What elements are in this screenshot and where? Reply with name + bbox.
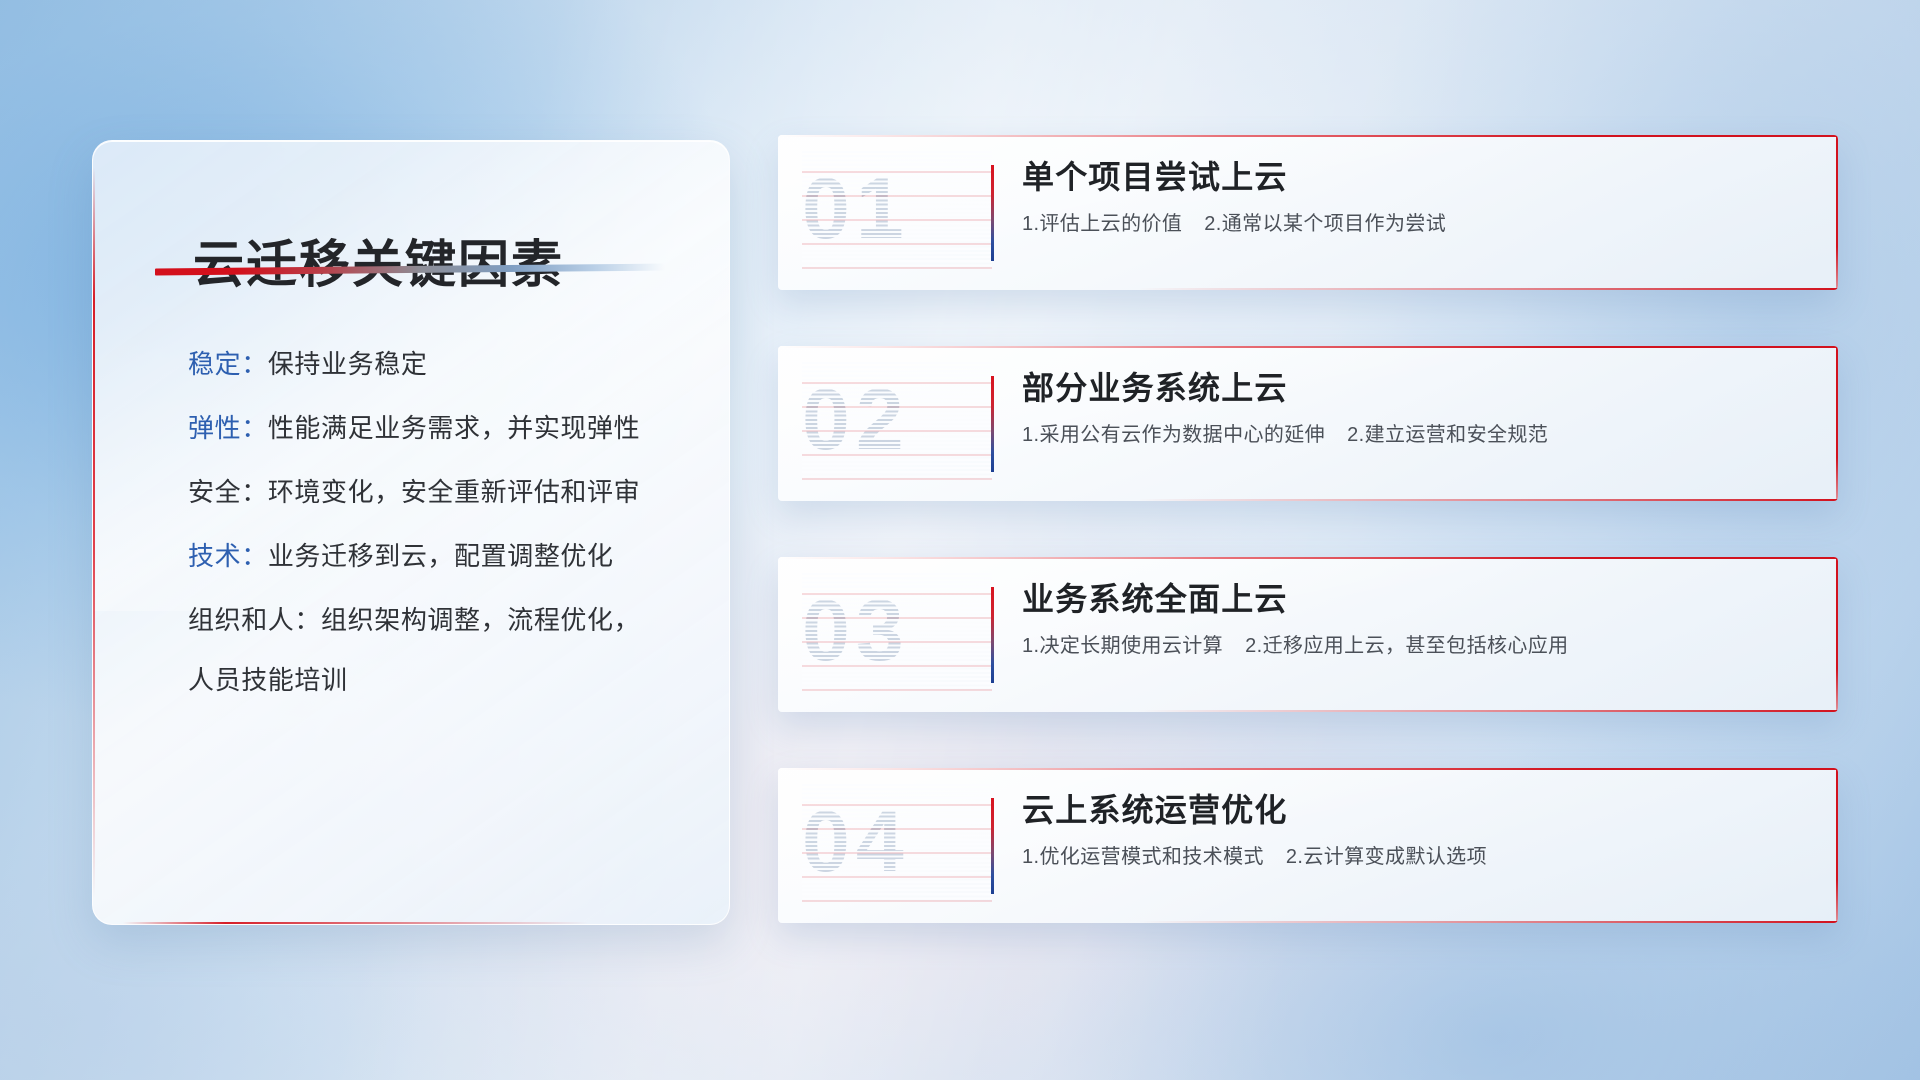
step-number: 04 <box>802 782 992 902</box>
card-top-accent-line <box>778 346 1838 348</box>
card-right-accent-line <box>1836 768 1838 923</box>
list-item-key: 稳定： <box>188 349 268 379</box>
list-item: 技术：业务迁移到云，配置调整优化 <box>188 543 693 569</box>
step-number-badge: 04 <box>802 782 992 902</box>
step-accent-bar <box>991 376 994 472</box>
step-title: 单个项目尝试上云 <box>1022 157 1812 197</box>
step-description-part-1: 1.优化运营模式和技术模式 <box>1022 846 1264 868</box>
card-bottom-accent-line <box>1138 710 1838 712</box>
step-description-part-1: 1.采用公有云作为数据中心的延伸 <box>1022 424 1325 446</box>
step-number-badge: 03 <box>802 571 992 691</box>
list-item-key: 安全： <box>188 477 268 507</box>
cloud-migration-steps: 01 单个项目尝试上云 1.评估上云的价值2.通常以某个项目作为尝试 02 <box>778 135 1838 979</box>
card-right-accent-line <box>1836 557 1838 712</box>
card-bottom-accent-line <box>1138 499 1838 501</box>
list-item-value: 环境变化，安全重新评估和评审 <box>268 477 640 507</box>
step-text-block: 单个项目尝试上云 1.评估上云的价值2.通常以某个项目作为尝试 <box>1022 157 1812 237</box>
step-number-badge: 01 <box>802 149 992 269</box>
card-right-accent-line <box>1836 135 1838 290</box>
step-text-block: 云上系统运营优化 1.优化运营模式和技术模式2.云计算变成默认选项 <box>1022 790 1812 870</box>
step-text-block: 业务系统全面上云 1.决定长期使用云计算2.迁移应用上云，甚至包括核心应用 <box>1022 579 1812 659</box>
card-top-accent-line <box>778 135 1838 137</box>
card-top-accent-line <box>778 557 1838 559</box>
step-title: 云上系统运营优化 <box>1022 790 1812 830</box>
step-number: 02 <box>802 360 992 480</box>
step-description-part-2: 2.建立运营和安全规范 <box>1347 424 1548 446</box>
step-description: 1.决定长期使用云计算2.迁移应用上云，甚至包括核心应用 <box>1022 633 1812 659</box>
step-card-03[interactable]: 03 业务系统全面上云 1.决定长期使用云计算2.迁移应用上云，甚至包括核心应用 <box>778 557 1838 712</box>
step-number: 03 <box>802 571 992 691</box>
key-factors-list: 稳定：保持业务稳定 弹性：性能满足业务需求，并实现弹性 安全：环境变化，安全重新… <box>188 351 693 693</box>
list-item-key: 技术： <box>188 541 268 571</box>
list-item: 安全：环境变化，安全重新评估和评审 <box>188 479 693 505</box>
step-description-part-2: 2.云计算变成默认选项 <box>1286 846 1487 868</box>
step-title: 部分业务系统上云 <box>1022 368 1812 408</box>
list-item: 稳定：保持业务稳定 <box>188 351 693 377</box>
step-text-block: 部分业务系统上云 1.采用公有云作为数据中心的延伸2.建立运营和安全规范 <box>1022 368 1812 448</box>
step-accent-bar <box>991 798 994 894</box>
card-top-accent-line <box>778 768 1838 770</box>
step-description-part-2: 2.通常以某个项目作为尝试 <box>1204 213 1446 235</box>
list-item-value: 业务迁移到云，配置调整优化 <box>268 541 614 571</box>
step-accent-bar <box>991 165 994 261</box>
key-factors-card: 云迁移关键因素 稳定：保持业务稳定 弹性：性能满足业务需求，并实现弹性 安全：环… <box>92 140 730 925</box>
list-item: 弹性：性能满足业务需求，并实现弹性 <box>188 415 693 441</box>
step-accent-bar <box>991 587 994 683</box>
step-description-part-1: 1.决定长期使用云计算 <box>1022 635 1223 657</box>
card-left-accent-line <box>93 167 95 898</box>
step-description: 1.优化运营模式和技术模式2.云计算变成默认选项 <box>1022 844 1812 870</box>
list-item-value: 性能满足业务需求，并实现弹性 <box>268 413 640 443</box>
list-item-value: 组织架构调整，流程优化， <box>321 605 640 635</box>
step-number-badge: 02 <box>802 360 992 480</box>
step-title: 业务系统全面上云 <box>1022 579 1812 619</box>
slide-stage: 云迁移关键因素 稳定：保持业务稳定 弹性：性能满足业务需求，并实现弹性 安全：环… <box>0 0 1920 1080</box>
step-card-02[interactable]: 02 部分业务系统上云 1.采用公有云作为数据中心的延伸2.建立运营和安全规范 <box>778 346 1838 501</box>
page-title: 云迁移关键因素 <box>193 223 564 297</box>
card-right-accent-line <box>1836 346 1838 501</box>
step-description: 1.评估上云的价值2.通常以某个项目作为尝试 <box>1022 211 1812 237</box>
card-bottom-accent-line <box>123 922 589 924</box>
card-bottom-accent-line <box>1138 921 1838 923</box>
step-description-part-2: 2.迁移应用上云，甚至包括核心应用 <box>1245 635 1568 657</box>
step-description: 1.采用公有云作为数据中心的延伸2.建立运营和安全规范 <box>1022 422 1812 448</box>
list-item-key: 弹性： <box>188 413 268 443</box>
list-item: 组织和人：组织架构调整，流程优化， <box>188 607 693 633</box>
card-bottom-accent-line <box>1138 288 1838 290</box>
list-item-continuation: 人员技能培训 <box>188 667 693 693</box>
list-item-value: 保持业务稳定 <box>268 349 428 379</box>
step-number: 01 <box>802 149 992 269</box>
step-card-04[interactable]: 04 云上系统运营优化 1.优化运营模式和技术模式2.云计算变成默认选项 <box>778 768 1838 923</box>
step-description-part-1: 1.评估上云的价值 <box>1022 213 1182 235</box>
list-item-key: 组织和人： <box>188 605 321 635</box>
step-card-01[interactable]: 01 单个项目尝试上云 1.评估上云的价值2.通常以某个项目作为尝试 <box>778 135 1838 290</box>
